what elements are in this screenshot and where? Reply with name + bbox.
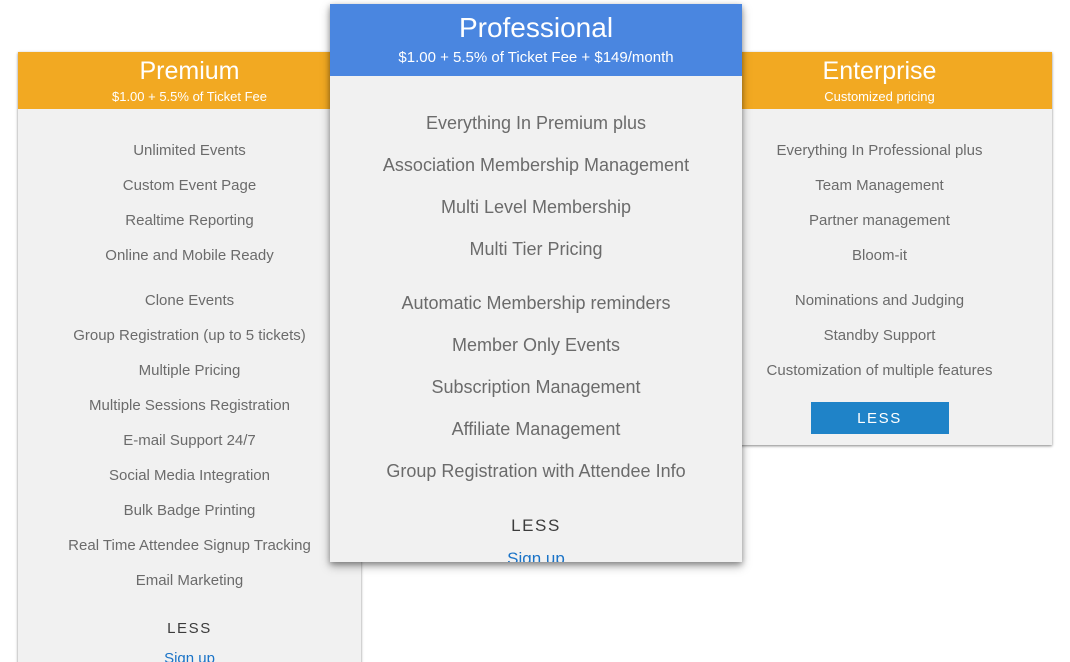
signup-link-professional[interactable]: Sign up [330, 549, 742, 562]
card-header-professional: Professional $1.00 + 5.5% of Ticket Fee … [330, 4, 742, 76]
plan-price-enterprise: Customized pricing [707, 89, 1052, 104]
feature-list-enterprise: Everything In Professional plus Team Man… [707, 109, 1052, 388]
list-item: Multi Level Membership [330, 186, 742, 228]
toggle-less-professional[interactable]: LESS [330, 516, 742, 536]
card-header-enterprise: Enterprise Customized pricing [707, 52, 1052, 109]
list-item: Multiple Pricing [18, 353, 361, 388]
list-item: Everything In Professional plus [707, 133, 1052, 168]
list-item: Customization of multiple features [707, 353, 1052, 388]
list-item: E-mail Support 24/7 [18, 423, 361, 458]
list-item: Group Registration (up to 5 tickets) [18, 318, 361, 353]
list-item: Everything In Premium plus [330, 102, 742, 144]
list-item: Social Media Integration [18, 458, 361, 493]
toggle-less-premium[interactable]: LESS [18, 620, 361, 637]
list-item: Bloom-it [707, 238, 1052, 273]
feature-list-premium: Unlimited Events Custom Event Page Realt… [18, 109, 361, 598]
card-header-premium: Premium $1.00 + 5.5% of Ticket Fee [18, 52, 361, 109]
signup-link-premium[interactable]: Sign up [18, 650, 361, 662]
list-item: Multi Tier Pricing [330, 228, 742, 270]
list-item: Custom Event Page [18, 168, 361, 203]
list-item: Group Registration with Attendee Info [330, 450, 742, 492]
toggle-less-enterprise[interactable]: LESS [811, 402, 949, 434]
list-item: Member Only Events [330, 324, 742, 366]
list-item: Bulk Badge Printing [18, 493, 361, 528]
list-item: Standby Support [707, 318, 1052, 353]
list-item: Clone Events [18, 283, 361, 318]
pricing-card-professional: Professional $1.00 + 5.5% of Ticket Fee … [330, 4, 742, 562]
list-item: Affiliate Management [330, 408, 742, 450]
list-item: Real Time Attendee Signup Tracking [18, 528, 361, 563]
list-item: Nominations and Judging [707, 283, 1052, 318]
plan-price-premium: $1.00 + 5.5% of Ticket Fee [18, 89, 361, 104]
pricing-card-enterprise: Enterprise Customized pricing Everything… [707, 52, 1052, 445]
plan-price-professional: $1.00 + 5.5% of Ticket Fee + $149/month [330, 49, 742, 66]
list-item: Partner management [707, 203, 1052, 238]
list-item: Unlimited Events [18, 133, 361, 168]
list-item: Team Management [707, 168, 1052, 203]
plan-title-premium: Premium [18, 58, 361, 86]
list-item: Association Membership Management [330, 144, 742, 186]
list-item: Online and Mobile Ready [18, 238, 361, 273]
list-item: Automatic Membership reminders [330, 282, 742, 324]
list-item: Email Marketing [18, 563, 361, 598]
plan-title-enterprise: Enterprise [707, 58, 1052, 86]
pricing-card-premium: Premium $1.00 + 5.5% of Ticket Fee Unlim… [18, 52, 361, 662]
plan-title-professional: Professional [330, 13, 742, 44]
list-item: Subscription Management [330, 366, 742, 408]
pricing-table: Premium $1.00 + 5.5% of Ticket Fee Unlim… [0, 0, 1070, 662]
list-item: Multiple Sessions Registration [18, 388, 361, 423]
feature-list-professional: Everything In Premium plus Association M… [330, 76, 742, 492]
list-item: Realtime Reporting [18, 203, 361, 238]
